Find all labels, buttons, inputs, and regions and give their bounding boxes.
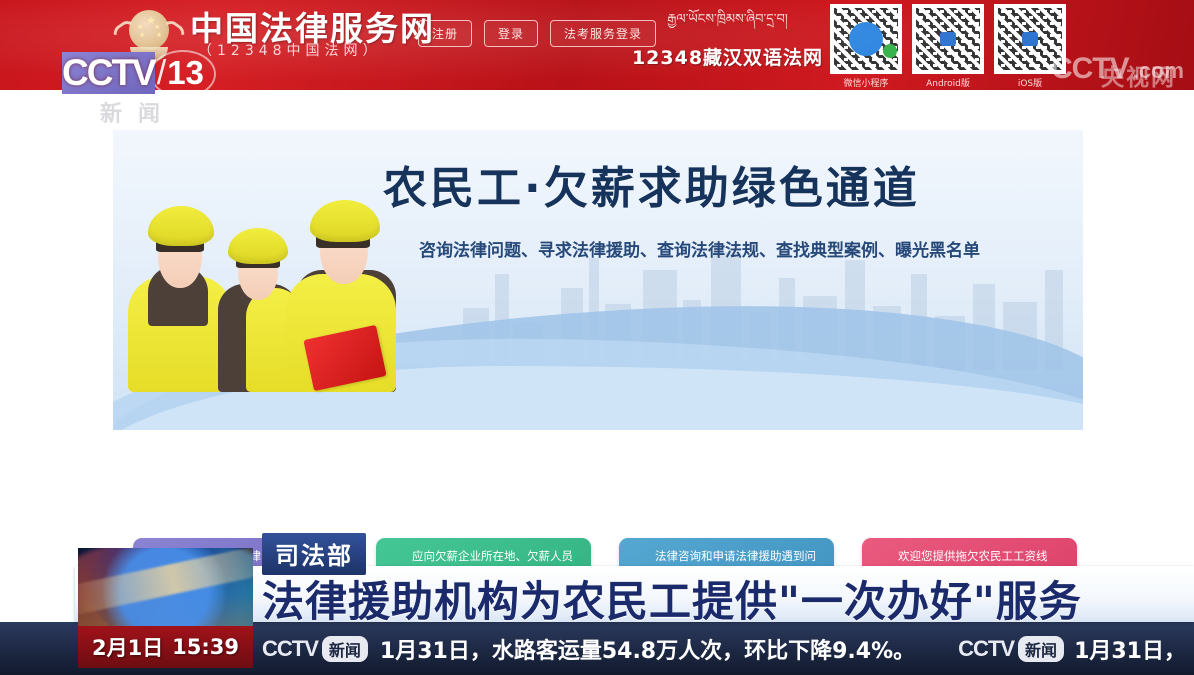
qr-wechat[interactable]: 微信小程序 [830,4,902,89]
ticker-right-brand: CCTV [958,636,1014,662]
construction-workers-illustration [118,172,408,392]
ticker-brand-pill: 新闻 [322,636,368,662]
news-watermark: 新闻 [100,96,176,128]
bilingual-brand-cn: 12348藏汉双语法网 [620,43,835,70]
ticker-right-content: CCTV 新闻 1月31日， [958,622,1186,675]
register-button[interactable]: 注册 [418,20,472,47]
hero-title: 农民工·欠薪求助绿色通道 [383,152,920,216]
cctv-globe-graphic [78,548,253,626]
ticker-brand: CCTV [262,636,318,662]
broadcast-date: 2月1日 [92,632,163,662]
hero-banner: 农民工·欠薪求助绿色通道 咨询法律问题、寻求法律援助、查询法律法规、查找典型案例… [113,130,1083,430]
news-source-label: 司法部 [275,542,353,570]
qr-wechat-caption: 微信小程序 [830,76,902,89]
tibetan-brand-text: རྒྱལ་ཡོངས་ཁྲིམས་ཞིབ་དྲ་བ། [620,4,835,41]
broadcast-time: 15:39 [172,635,239,659]
header-button-group: 注册 登录 法考服务登录 [418,20,656,47]
tv-broadcast-screen: ★ ★ ★ ★ ★ 中国法律服务网 （12348中国法网） 注册 登录 法考服务… [0,0,1194,675]
ticker-content: CCTV 新闻 1月31日，水路客运量54.8万人次，环比下降9.4%。 [262,622,915,675]
ticker-text: 1月31日，水路客运量54.8万人次，环比下降9.4%。 [380,633,915,665]
cctv13-channel-logo: CCTV / 13 [62,52,204,94]
site-title: 中国法律服务网 [190,2,435,50]
cctv-logo-slash: / [157,54,166,93]
site-subtitle: （12348中国法网） [198,40,382,60]
date-time-box: 2月1日 15:39 [78,626,253,668]
login-button[interactable]: 登录 [484,20,538,47]
cctv-channel-number: 13 [167,54,204,92]
cctv-news-logo: CCTV 新闻 [262,636,368,662]
news-source-tag: 司法部 [262,533,366,575]
ticker-right-text: 1月31日， [1074,633,1186,665]
qr-android[interactable]: Android版 [912,4,984,89]
qr-code-group: 微信小程序 Android版 iOS版 [830,4,1066,89]
news-headline: 法律援助机构为农民工提供"一次办好"服务 [262,568,1082,629]
cctv-news-logo-right: CCTV 新闻 [958,636,1064,662]
bilingual-brand: རྒྱལ་ཡོངས་ཁྲིམས་ཞིབ་དྲ་བ། 12348藏汉双语法网 [620,4,835,70]
hero-subtitle: 咨询法律问题、寻求法律援助、查询法律法规、查找典型案例、曝光黑名单 [385,235,1045,267]
ticker-right-pill: 新闻 [1018,636,1064,662]
law-exam-login-button[interactable]: 法考服务登录 [550,20,656,47]
cctv-com-tld: .com [1133,58,1184,84]
qr-android-caption: Android版 [912,76,984,89]
cctv-com-brand: CCTV [1051,52,1129,86]
cctv-com-watermark: CCTV .com [1051,52,1184,86]
cctv-wordmark: CCTV [62,52,155,94]
website-body: 农民工·欠薪求助绿色通道 咨询法律问题、寻求法律援助、查询法律法规、查找典型案例… [0,90,1194,625]
